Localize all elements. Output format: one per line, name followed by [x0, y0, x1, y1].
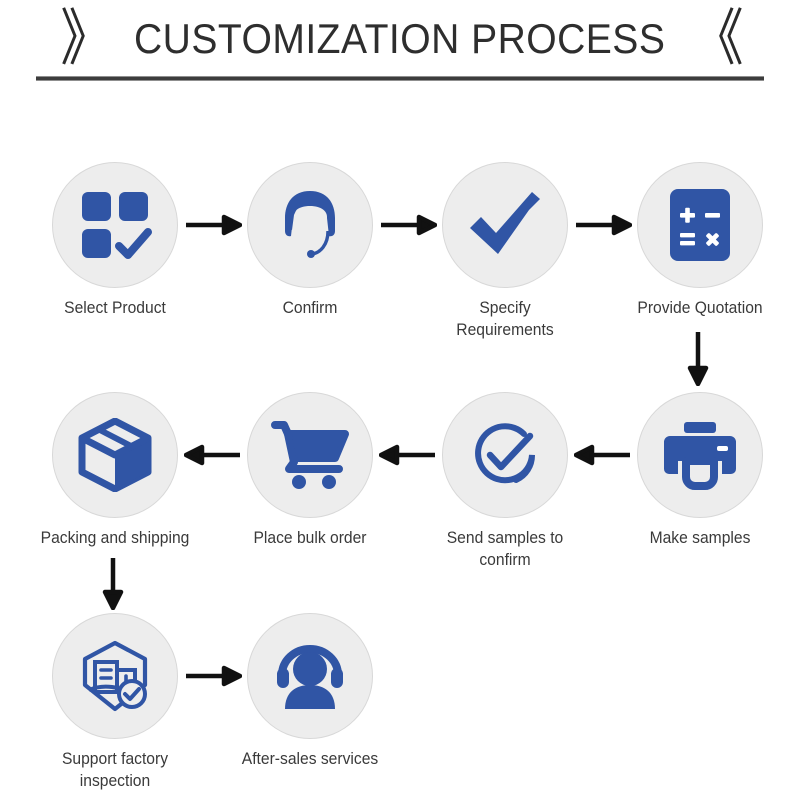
title-row: 》 CUSTOMIZATION PROCESS 《 — [0, 8, 800, 70]
step-label: Packing and shipping — [40, 527, 191, 549]
headset-agent-icon — [272, 187, 348, 263]
step-specify-requirements[interactable]: Specify Requirements — [423, 162, 587, 341]
page-title: CUSTOMIZATION PROCESS — [134, 18, 665, 60]
step-icon-circle — [442, 392, 568, 518]
right-chevron-icon: 《 — [692, 8, 740, 69]
arrow-down-packing-to-inspection — [101, 556, 125, 610]
page-header: 》 CUSTOMIZATION PROCESS 《 — [0, 0, 800, 90]
step-label: After-sales services — [235, 748, 386, 770]
package-box-icon — [78, 418, 152, 492]
step-provide-quotation[interactable]: Provide Quotation — [618, 162, 782, 319]
arrow-down-quotation-to-make-samples — [686, 330, 710, 386]
step-label: Specify Requirements — [430, 297, 581, 341]
arrow-right-confirm-to-specify — [379, 213, 437, 237]
step-support-factory-inspection[interactable]: Support factory inspection — [33, 613, 197, 792]
step-label: Make samples — [625, 527, 776, 549]
step-icon-circle — [637, 392, 763, 518]
arrow-left-send-samples-to-bulk-order — [379, 443, 437, 467]
left-chevron-icon: 》 — [60, 8, 108, 69]
step-icon-circle — [52, 162, 178, 288]
step-icon-circle — [52, 392, 178, 518]
step-label: Confirm — [235, 297, 386, 319]
step-packing-shipping[interactable]: Packing and shipping — [33, 392, 197, 549]
step-label: Provide Quotation — [625, 297, 776, 319]
step-icon-circle — [52, 613, 178, 739]
factory-shield-check-icon — [77, 640, 153, 712]
step-after-sales-services[interactable]: After-sales services — [228, 613, 392, 770]
arrow-right-select-to-confirm — [184, 213, 242, 237]
arrow-left-bulk-order-to-packing — [184, 443, 242, 467]
arrow-right-specify-to-quotation — [574, 213, 632, 237]
step-send-samples[interactable]: Send samples to confirm — [423, 392, 587, 571]
step-label: Send samples to confirm — [430, 527, 581, 571]
circle-check-icon — [467, 417, 543, 493]
grid-check-icon — [78, 188, 152, 262]
shopping-cart-icon — [271, 420, 349, 490]
headphones-person-icon — [272, 643, 348, 709]
step-label: Select Product — [40, 297, 191, 319]
arrow-left-make-samples-to-send-samples — [574, 443, 632, 467]
step-icon-circle — [247, 162, 373, 288]
calculator-icon — [668, 187, 732, 263]
step-select-product[interactable]: Select Product — [33, 162, 197, 319]
step-label: Support factory inspection — [40, 748, 191, 792]
step-confirm[interactable]: Confirm — [228, 162, 392, 319]
step-icon-circle — [442, 162, 568, 288]
checkmark-icon — [466, 186, 544, 264]
arrow-right-inspection-to-after-sales — [184, 664, 242, 688]
title-divider — [36, 76, 764, 81]
step-make-samples[interactable]: Make samples — [618, 392, 782, 549]
step-place-bulk-order[interactable]: Place bulk order — [228, 392, 392, 549]
step-icon-circle — [247, 613, 373, 739]
step-icon-circle — [247, 392, 373, 518]
step-label: Place bulk order — [235, 527, 386, 549]
step-icon-circle — [637, 162, 763, 288]
printer-icon — [662, 420, 738, 490]
